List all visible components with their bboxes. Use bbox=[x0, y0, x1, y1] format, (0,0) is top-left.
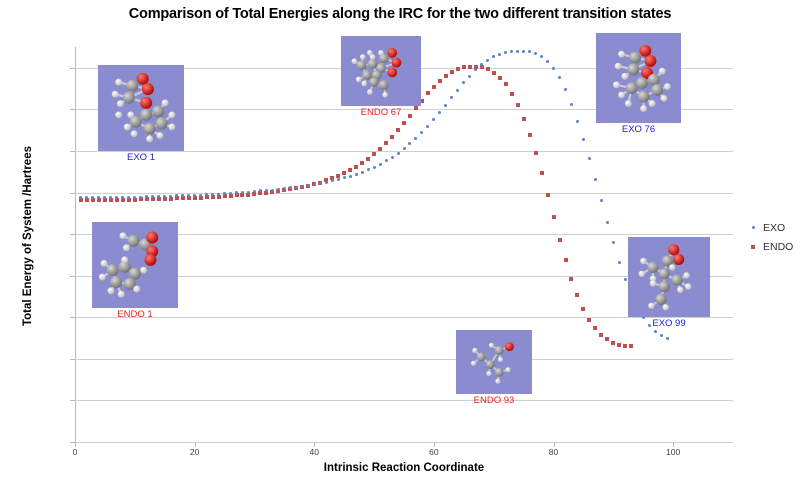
molecule-label-exo-76: EXO 76 bbox=[569, 124, 709, 135]
x-tick-label: 80 bbox=[534, 447, 574, 457]
data-point-endo bbox=[354, 165, 358, 169]
data-point-exo bbox=[373, 166, 376, 169]
data-point-endo bbox=[617, 343, 621, 347]
data-point-exo bbox=[600, 199, 603, 202]
data-point-endo bbox=[372, 152, 376, 156]
data-point-exo bbox=[319, 182, 322, 185]
data-point-exo bbox=[624, 278, 627, 281]
data-point-endo bbox=[438, 79, 442, 83]
molecule-thumbnail-endo-93[interactable] bbox=[456, 330, 532, 394]
data-point-exo bbox=[349, 175, 352, 178]
x-axis-title: Intrinsic Reaction Coordinate bbox=[75, 462, 733, 474]
data-point-exo bbox=[450, 96, 453, 99]
data-point-exo bbox=[331, 179, 334, 182]
data-point-exo bbox=[277, 188, 280, 191]
data-point-endo bbox=[516, 103, 520, 107]
data-point-endo bbox=[456, 67, 460, 71]
data-point-exo bbox=[391, 156, 394, 159]
data-point-exo bbox=[217, 193, 220, 196]
data-point-exo bbox=[307, 184, 310, 187]
legend-label-exo: EXO bbox=[763, 222, 785, 234]
data-point-endo bbox=[402, 121, 406, 125]
data-point-endo bbox=[510, 92, 514, 96]
data-point-endo bbox=[366, 157, 370, 161]
y-tick-mark bbox=[70, 68, 75, 69]
data-point-exo bbox=[301, 185, 304, 188]
plot-area: -612.68-612.69-612.7-612.71-612.72-612.7… bbox=[75, 47, 733, 442]
molecule-label-endo-67: ENDO 67 bbox=[311, 107, 451, 118]
data-point-endo bbox=[426, 91, 430, 95]
data-point-endo bbox=[587, 318, 591, 322]
molecule-thumbnail-exo-99[interactable] bbox=[628, 237, 710, 317]
data-point-endo bbox=[546, 193, 550, 197]
molecule-thumbnail-endo-1[interactable] bbox=[92, 222, 178, 308]
data-point-endo bbox=[522, 117, 526, 121]
y-tick-mark bbox=[70, 276, 75, 277]
data-point-exo bbox=[241, 191, 244, 194]
data-point-exo bbox=[534, 52, 537, 55]
legend-label-endo: ENDO bbox=[763, 241, 793, 253]
x-tick-label: 100 bbox=[653, 447, 693, 457]
data-point-endo bbox=[432, 85, 436, 89]
data-point-endo bbox=[450, 70, 454, 74]
data-point-exo bbox=[474, 68, 477, 71]
data-point-endo bbox=[629, 344, 633, 348]
data-point-exo bbox=[552, 67, 555, 70]
data-point-exo bbox=[576, 120, 579, 123]
data-point-endo bbox=[378, 147, 382, 151]
data-point-exo bbox=[367, 168, 370, 171]
x-tick-label: 40 bbox=[294, 447, 334, 457]
data-point-endo bbox=[599, 333, 603, 337]
data-point-exo bbox=[588, 157, 591, 160]
molecule-label-endo-93: ENDO 93 bbox=[424, 395, 564, 406]
y-axis-title: Total Energy of System /Hartrees bbox=[22, 116, 34, 356]
data-point-exo bbox=[594, 178, 597, 181]
data-point-exo bbox=[558, 76, 561, 79]
data-point-exo bbox=[337, 178, 340, 181]
gridline bbox=[75, 193, 733, 194]
chart-title: Comparison of Total Energies along the I… bbox=[0, 6, 800, 22]
data-point-endo bbox=[498, 76, 502, 80]
data-point-exo bbox=[426, 125, 429, 128]
molecule-label-endo-1: ENDO 1 bbox=[65, 309, 205, 320]
data-point-endo bbox=[581, 307, 585, 311]
data-point-exo bbox=[397, 152, 400, 155]
molecule-label-exo-1: EXO 1 bbox=[71, 152, 211, 163]
data-point-exo bbox=[271, 189, 274, 192]
data-point-endo bbox=[348, 168, 352, 172]
molecule-thumbnail-endo-67[interactable] bbox=[341, 36, 421, 106]
data-point-exo bbox=[355, 173, 358, 176]
data-point-exo bbox=[468, 75, 471, 78]
y-tick-mark bbox=[70, 109, 75, 110]
data-point-exo bbox=[528, 50, 531, 53]
data-point-endo bbox=[611, 341, 615, 345]
data-point-exo bbox=[564, 88, 567, 91]
data-point-exo bbox=[462, 81, 465, 84]
legend-item-exo[interactable]: EXO bbox=[748, 218, 793, 237]
data-point-endo bbox=[342, 171, 346, 175]
legend-item-endo[interactable]: ENDO bbox=[748, 237, 793, 256]
data-point-endo bbox=[384, 141, 388, 145]
data-point-endo bbox=[486, 67, 490, 71]
y-tick-mark bbox=[70, 193, 75, 194]
data-point-exo bbox=[666, 337, 669, 340]
data-point-endo bbox=[235, 193, 239, 197]
data-point-exo bbox=[295, 186, 298, 189]
legend-marker-exo-icon bbox=[748, 226, 758, 229]
data-point-exo bbox=[385, 159, 388, 162]
data-point-exo bbox=[504, 51, 507, 54]
data-point-endo bbox=[462, 65, 466, 69]
y-tick-mark bbox=[70, 359, 75, 360]
data-point-exo bbox=[247, 191, 250, 194]
data-point-exo bbox=[432, 118, 435, 121]
data-point-endo bbox=[504, 82, 508, 86]
chart-legend: EXO ENDO bbox=[748, 218, 793, 256]
data-point-exo bbox=[408, 142, 411, 145]
data-point-endo bbox=[492, 71, 496, 75]
data-point-endo bbox=[480, 65, 484, 69]
data-point-exo bbox=[540, 55, 543, 58]
data-point-exo bbox=[582, 138, 585, 141]
data-point-endo bbox=[569, 277, 573, 281]
x-tick-label: 0 bbox=[55, 447, 95, 457]
x-tick-label: 20 bbox=[175, 447, 215, 457]
data-point-exo bbox=[414, 137, 417, 140]
data-point-endo bbox=[211, 195, 215, 199]
data-point-exo bbox=[343, 176, 346, 179]
data-point-exo bbox=[570, 103, 573, 106]
legend-marker-endo-icon bbox=[748, 245, 758, 249]
data-point-exo bbox=[522, 50, 525, 53]
data-point-exo bbox=[313, 183, 316, 186]
chart-container: Comparison of Total Energies along the I… bbox=[0, 0, 800, 486]
data-point-endo bbox=[528, 133, 532, 137]
y-axis-line bbox=[75, 47, 76, 442]
data-point-endo bbox=[390, 135, 394, 139]
data-point-exo bbox=[265, 189, 268, 192]
data-point-endo bbox=[468, 65, 472, 69]
data-point-endo bbox=[564, 258, 568, 262]
gridline bbox=[75, 400, 733, 401]
data-point-endo bbox=[534, 151, 538, 155]
data-point-exo bbox=[403, 147, 406, 150]
data-point-exo bbox=[492, 55, 495, 58]
data-point-exo bbox=[498, 53, 501, 56]
data-point-exo bbox=[612, 241, 615, 244]
data-point-exo bbox=[606, 221, 609, 224]
data-point-endo bbox=[593, 326, 597, 330]
data-point-exo bbox=[510, 50, 513, 53]
data-point-exo bbox=[420, 131, 423, 134]
y-tick-mark bbox=[70, 234, 75, 235]
data-point-endo bbox=[623, 344, 627, 348]
data-point-endo bbox=[605, 337, 609, 341]
data-point-exo bbox=[660, 334, 663, 337]
data-point-exo bbox=[618, 261, 621, 264]
molecule-label-exo-99: EXO 99 bbox=[599, 318, 739, 329]
data-point-endo bbox=[575, 293, 579, 297]
data-point-exo bbox=[361, 171, 364, 174]
data-point-exo bbox=[654, 330, 657, 333]
data-point-exo bbox=[456, 89, 459, 92]
y-tick-mark bbox=[70, 400, 75, 401]
gridline bbox=[75, 442, 733, 443]
data-point-exo bbox=[379, 163, 382, 166]
data-point-endo bbox=[540, 171, 544, 175]
data-point-exo bbox=[211, 193, 214, 196]
data-point-exo bbox=[325, 181, 328, 184]
data-point-exo bbox=[486, 59, 489, 62]
data-point-endo bbox=[552, 215, 556, 219]
molecule-thumbnail-exo-1[interactable] bbox=[98, 65, 184, 151]
data-point-exo bbox=[516, 50, 519, 53]
data-point-exo bbox=[546, 60, 549, 63]
data-point-endo bbox=[558, 238, 562, 242]
gridline bbox=[75, 359, 733, 360]
data-point-exo bbox=[169, 195, 172, 198]
data-point-endo bbox=[360, 161, 364, 165]
data-point-endo bbox=[396, 128, 400, 132]
molecule-thumbnail-exo-76[interactable] bbox=[596, 33, 681, 123]
data-point-endo bbox=[444, 74, 448, 78]
data-point-exo bbox=[139, 196, 142, 199]
data-point-exo bbox=[229, 192, 232, 195]
x-tick-label: 60 bbox=[414, 447, 454, 457]
data-point-exo bbox=[199, 194, 202, 197]
